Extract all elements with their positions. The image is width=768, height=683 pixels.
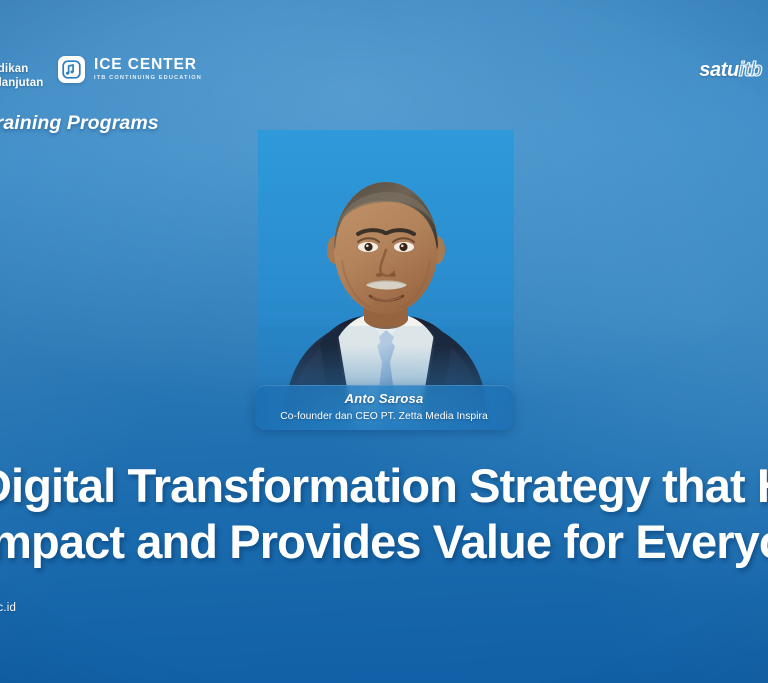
pendidikan-berkelanjutan-brand: Pendidikan Berkelanjutan [0,62,43,90]
slide-headline: Digital Transformation Strategy that Has… [0,458,768,570]
footer-url: ice.itb.ac.id [0,602,16,614]
presentation-slide: Pendidikan Berkelanjutan ICE CENTER ITB … [0,0,768,683]
ice-center-name: ICE CENTER [94,57,202,73]
headline-line-1: Digital Transformation Strategy that Has [0,458,768,514]
brand-left-line-1: Pendidikan [0,62,43,76]
satu-itb-logo-itb: itb [739,59,762,81]
headline-line-2: Impact and Provides Value for Everyone [0,514,768,570]
programs-label: Training Programs [0,112,159,135]
speaker-name-card: Anto Sarosa Co-founder dan CEO PT. Zetta… [255,385,513,430]
ice-center-logo: ICE CENTER ITB CONTINUING EDUCATION [58,56,202,83]
ice-center-subtitle: ITB CONTINUING EDUCATION [94,76,202,82]
slide-header: Pendidikan Berkelanjutan ICE CENTER ITB … [0,56,768,102]
speaker-name: Anto Sarosa [345,392,424,407]
satu-itb-logo: satuitb [699,60,762,80]
brand-left-line-2: Berkelanjutan [0,76,43,90]
ice-center-mark-icon [58,56,85,83]
satu-itb-logo-satu: satu [699,59,739,81]
ice-center-wordmark: ICE CENTER ITB CONTINUING EDUCATION [94,57,202,81]
speaker-role: Co-founder dan CEO PT. Zetta Media Inspi… [280,411,488,423]
